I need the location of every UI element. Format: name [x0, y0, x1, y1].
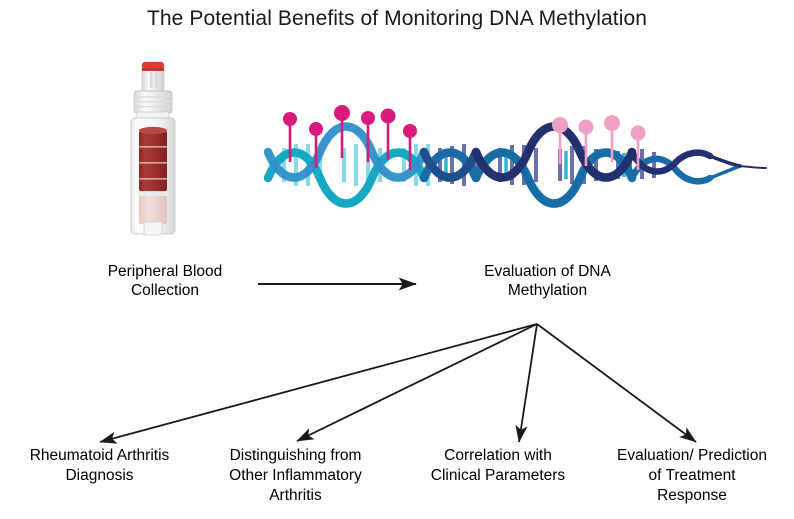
arrow-process-to-outcome-1 — [297, 324, 537, 441]
methyl-group-marks-left — [283, 105, 417, 170]
arrow-process-to-outcome-2 — [519, 324, 537, 442]
figure-canvas: The Potential Benefits of Monitoring DNA… — [0, 0, 794, 519]
arrow-process-to-outcome-3 — [537, 324, 696, 442]
tube-cap-icon — [142, 62, 164, 94]
tube-barrel-icon — [131, 118, 175, 235]
page-title: The Potential Benefits of Monitoring DNA… — [0, 6, 794, 32]
arrow-process-to-outcome-0 — [100, 324, 537, 442]
flow-arrows — [0, 255, 794, 465]
dna-double-helix-icon — [262, 100, 782, 215]
blood-collection-tube-icon — [118, 58, 194, 238]
tube-collar-icon — [134, 91, 172, 120]
